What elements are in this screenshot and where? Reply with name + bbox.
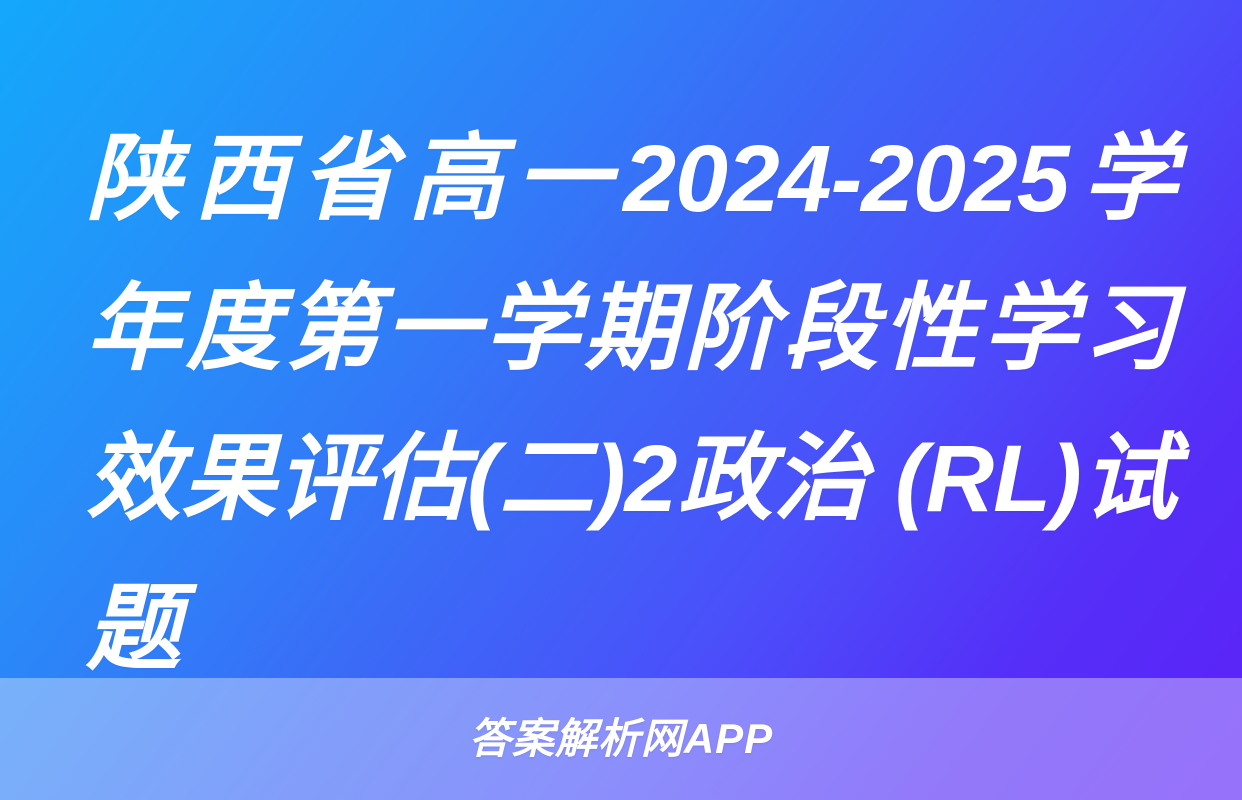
watermark-band: 答案解析网APP bbox=[0, 678, 1242, 800]
watermark-brand-label: 答案解析网APP bbox=[469, 718, 773, 760]
exam-cover-card: 陕西省高一2024-2025学年度第一学期阶段性学习效果评估(二)2政治 (RL… bbox=[0, 0, 1242, 800]
page-title: 陕西省高一2024-2025学年度第一学期阶段性学习效果评估(二)2政治 (RL… bbox=[86, 104, 1176, 704]
